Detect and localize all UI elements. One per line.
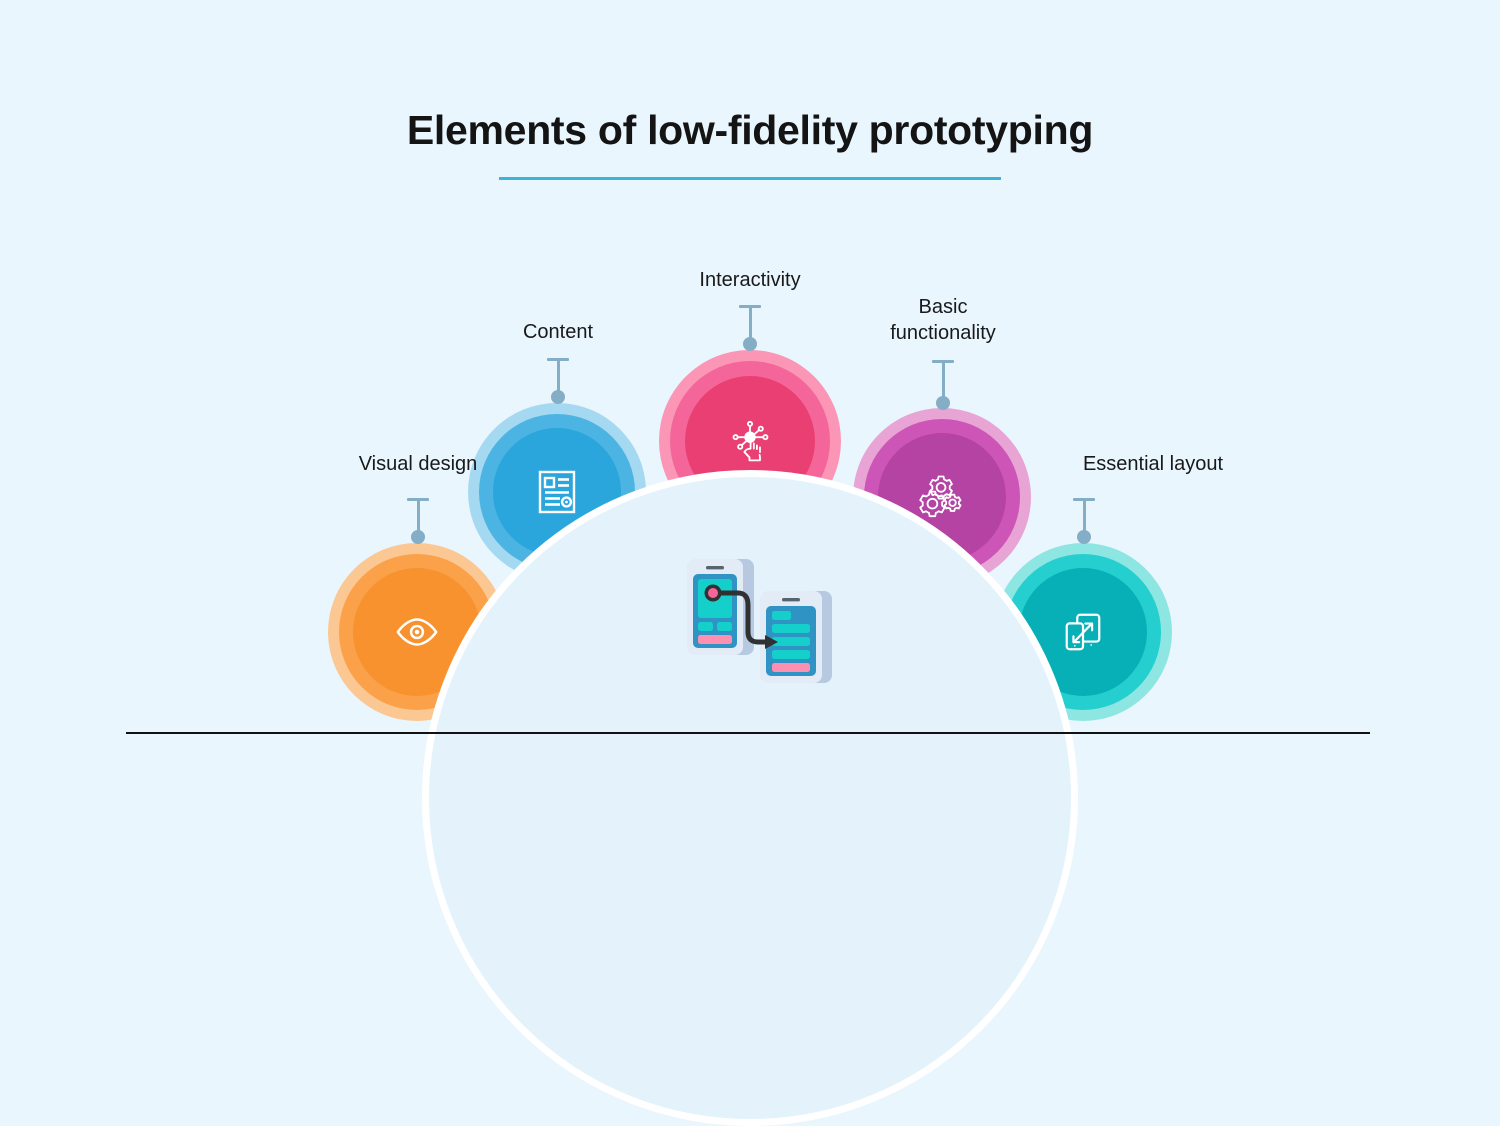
infographic-canvas: Elements of low-fidelity prototyping Vis… [0, 0, 1500, 801]
eye-icon [394, 609, 440, 655]
connector-interactivity [739, 305, 761, 351]
label-content: Content [438, 319, 678, 345]
label-visual-design: Visual design [298, 451, 538, 477]
baseline-rule [126, 732, 1370, 734]
title-underline [499, 177, 1001, 180]
label-essential-layout: Essential layout [1033, 451, 1273, 477]
title-block: Elements of low-fidelity prototyping [0, 108, 1500, 180]
document-icon [536, 469, 578, 515]
gears-icon [917, 474, 967, 520]
connector-basic-functionality [932, 360, 954, 410]
label-basic-functionality: Basic functionality [823, 294, 1063, 346]
responsive-layout-icon [1061, 610, 1105, 654]
connector-visual-design [407, 498, 429, 544]
touch-interaction-icon [726, 417, 774, 465]
label-interactivity: Interactivity [630, 267, 870, 293]
center-illustration [672, 548, 842, 698]
connector-essential-layout [1073, 498, 1095, 544]
connector-content [547, 358, 569, 404]
page-title: Elements of low-fidelity prototyping [0, 108, 1500, 153]
